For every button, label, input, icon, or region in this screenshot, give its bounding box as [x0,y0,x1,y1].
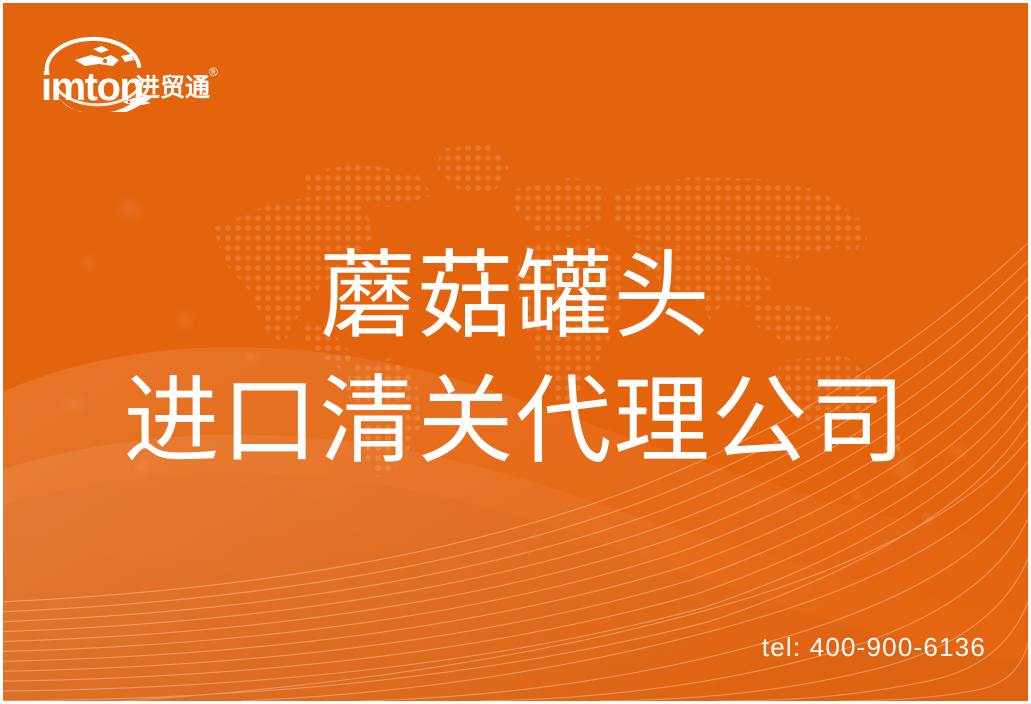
registered-trademark-icon: ® [209,65,218,79]
promotional-banner: imton 进贸通 ® 蘑菇罐头 进口清关代理公司 tel: 400-900-6… [0,0,1031,704]
headline-line-1: 蘑菇罐头 [3,235,1028,360]
imton-logo[interactable]: imton 进贸通 ® [39,36,219,112]
page-title: 蘑菇罐头 进口清关代理公司 [3,235,1028,485]
headline-line-2: 进口清关代理公司 [3,360,1028,485]
contact-phone[interactable]: tel: 400-900-6136 [762,632,986,663]
